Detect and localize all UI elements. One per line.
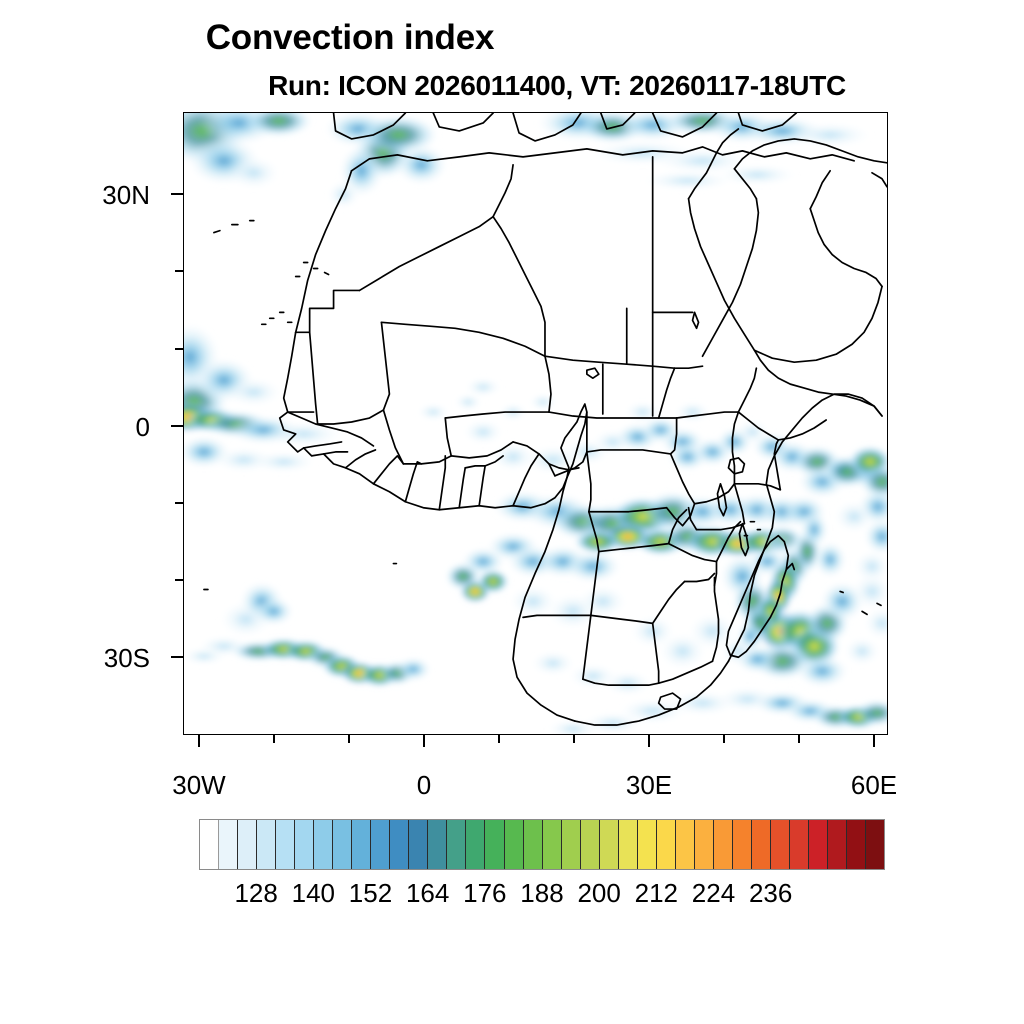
colorbar-cell-14 [466, 820, 485, 869]
xtick-30e [648, 735, 650, 747]
colorbar-cell-7 [333, 820, 352, 869]
ytick-label-0: 0 [30, 412, 150, 443]
colorbar-cell-4 [276, 820, 295, 869]
colorbar-cell-8 [352, 820, 371, 869]
colorbar-cell-22 [619, 820, 638, 869]
xtick-label-60e: 60E [804, 770, 944, 801]
colorbar [199, 819, 885, 870]
colorbar-labels: 128140152164176188200212224236 [0, 878, 1024, 914]
colorbar-cell-35 [866, 820, 884, 869]
ytick-minor-10s [175, 502, 183, 504]
colorbar-cell-6 [314, 820, 333, 869]
colorbar-cell-23 [638, 820, 657, 869]
map-plot-area [183, 112, 888, 735]
ytick-30n [171, 193, 183, 195]
xtick-minor-20e [573, 735, 575, 743]
ytick-0 [171, 425, 183, 427]
convection-map [184, 113, 887, 734]
page-subtitle-text: Run: ICON 2026011400, VT: 20260117-18UTC [268, 70, 846, 102]
xtick-minor-40e [723, 735, 725, 743]
colorbar-cell-32 [809, 820, 828, 869]
ytick-minor-20n [175, 270, 183, 272]
page-title: Convection index [0, 18, 1024, 58]
xtick-label-30e: 30E [579, 770, 719, 801]
xtick-label-0: 0 [354, 770, 494, 801]
colorbar-cell-21 [600, 820, 619, 869]
colorbar-cell-17 [524, 820, 543, 869]
colorbar-cell-3 [257, 820, 276, 869]
colorbar-tick-label-236: 236 [726, 878, 816, 909]
ytick-label-30n: 30N [30, 180, 150, 211]
colorbar-cell-13 [447, 820, 466, 869]
xtick-minor-10e [498, 735, 500, 743]
xtick-minor-20w [273, 735, 275, 743]
colorbar-cell-26 [695, 820, 714, 869]
colorbar-cell-18 [543, 820, 562, 869]
colorbar-cell-27 [714, 820, 733, 869]
colorbar-cell-24 [657, 820, 676, 869]
colorbar-cell-33 [828, 820, 847, 869]
colorbar-cell-5 [295, 820, 314, 869]
colorbar-cell-30 [771, 820, 790, 869]
xtick-0 [423, 735, 425, 747]
colorbar-cell-9 [371, 820, 390, 869]
colorbar-cell-0 [200, 820, 219, 869]
colorbar-cell-31 [790, 820, 809, 869]
ytick-label-30s: 30S [30, 643, 150, 674]
ytick-30s [171, 656, 183, 658]
colorbar-cell-28 [733, 820, 752, 869]
page-subtitle: Run: ICON 2026011400, VT: 20260117-18UTC [0, 70, 1024, 102]
xtick-minor-50e [798, 735, 800, 743]
xtick-60e [873, 735, 875, 747]
colorbar-cell-2 [238, 820, 257, 869]
convection-field-layer [184, 113, 887, 734]
colorbar-cell-19 [562, 820, 581, 869]
ytick-minor-10n [175, 348, 183, 350]
colorbar-cell-10 [390, 820, 409, 869]
ytick-minor-20s [175, 579, 183, 581]
xtick-label-30w: 30W [129, 770, 269, 801]
colorbar-cell-1 [219, 820, 238, 869]
xtick-30w [198, 735, 200, 747]
page-title-text: Convection index [206, 18, 495, 58]
colorbar-cell-25 [676, 820, 695, 869]
colorbar-cells [199, 819, 885, 870]
colorbar-cell-12 [428, 820, 447, 869]
colorbar-cell-29 [752, 820, 771, 869]
colorbar-cell-15 [485, 820, 504, 869]
colorbar-cell-11 [409, 820, 428, 869]
colorbar-cell-20 [581, 820, 600, 869]
colorbar-cell-34 [847, 820, 866, 869]
colorbar-cell-16 [505, 820, 524, 869]
xtick-minor-10w [348, 735, 350, 743]
